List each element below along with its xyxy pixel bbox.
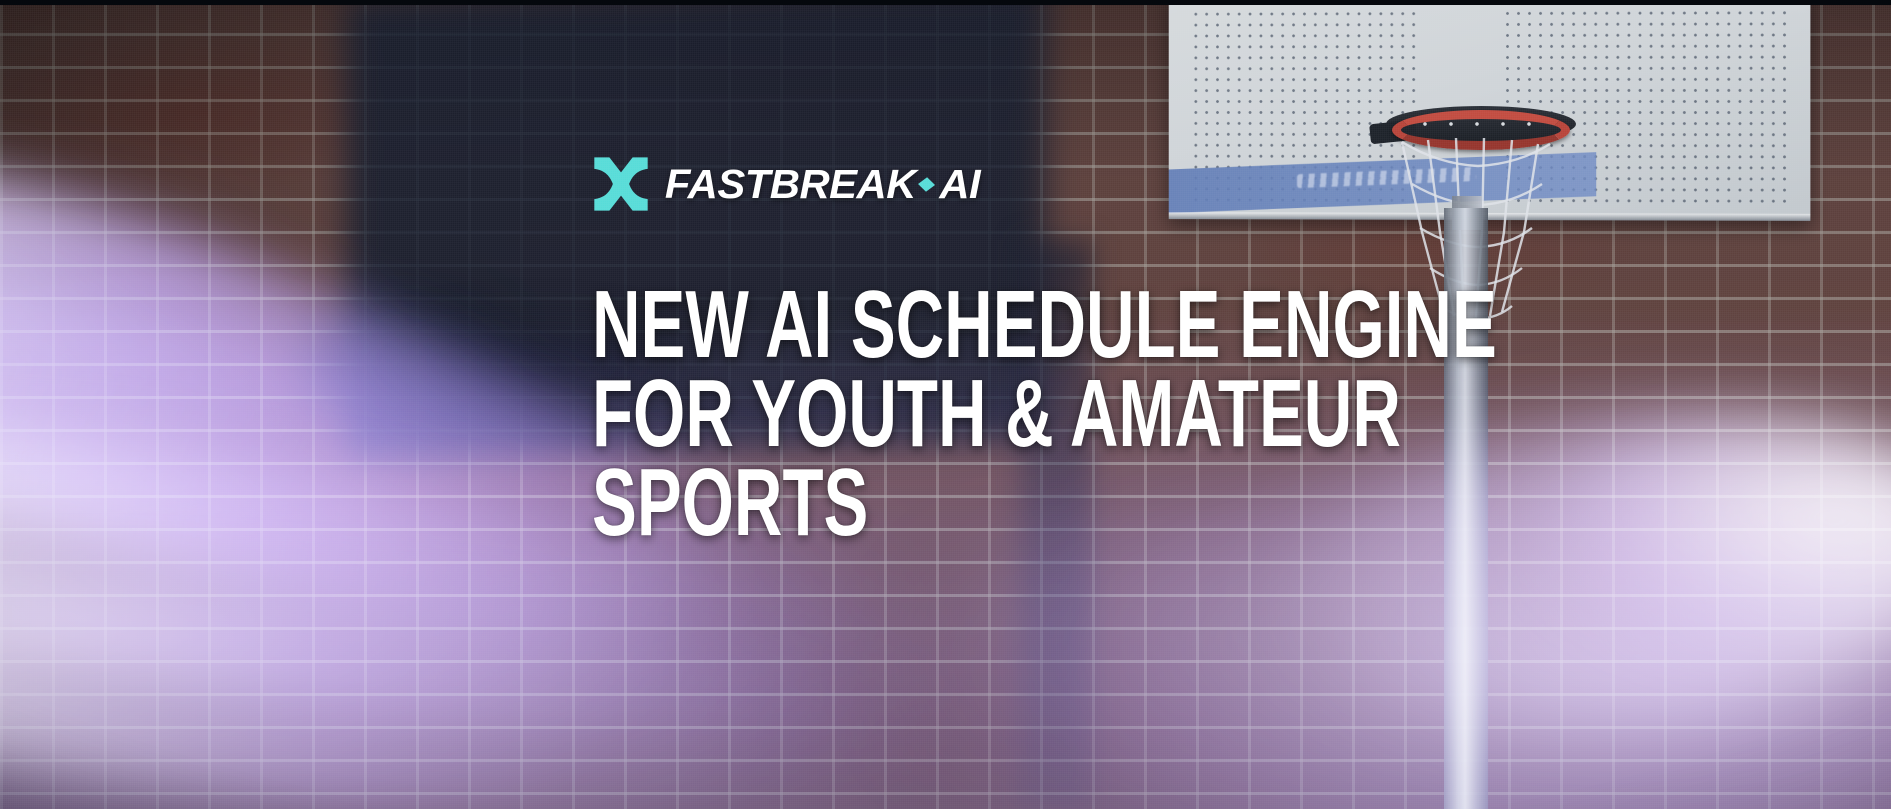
top-letterbox-bar bbox=[0, 0, 1891, 5]
fastbreak-ai-wordmark: FASTBREAK AI bbox=[665, 161, 980, 208]
hero-banner: FASTBREAK AI NEW AI SCHEDULE ENGINE FOR … bbox=[0, 0, 1891, 809]
headline-line-2: FOR YOUTH & AMATEUR bbox=[592, 369, 1096, 458]
diamond-separator-icon bbox=[918, 177, 935, 191]
hero-content: FASTBREAK AI NEW AI SCHEDULE ENGINE FOR … bbox=[592, 152, 1312, 612]
headline-line-1: NEW AI SCHEDULE ENGINE bbox=[592, 280, 1096, 369]
fastbreak-x-logo-icon bbox=[592, 155, 650, 213]
wordmark-ai: AI bbox=[939, 161, 980, 208]
fastbreak-ai-logo[interactable]: FASTBREAK AI bbox=[592, 152, 1312, 216]
page-title: NEW AI SCHEDULE ENGINE FOR YOUTH & AMATE… bbox=[592, 280, 1096, 547]
headline-line-3: SPORTS bbox=[592, 458, 1096, 547]
wordmark-fastbreak: FASTBREAK bbox=[665, 161, 916, 208]
